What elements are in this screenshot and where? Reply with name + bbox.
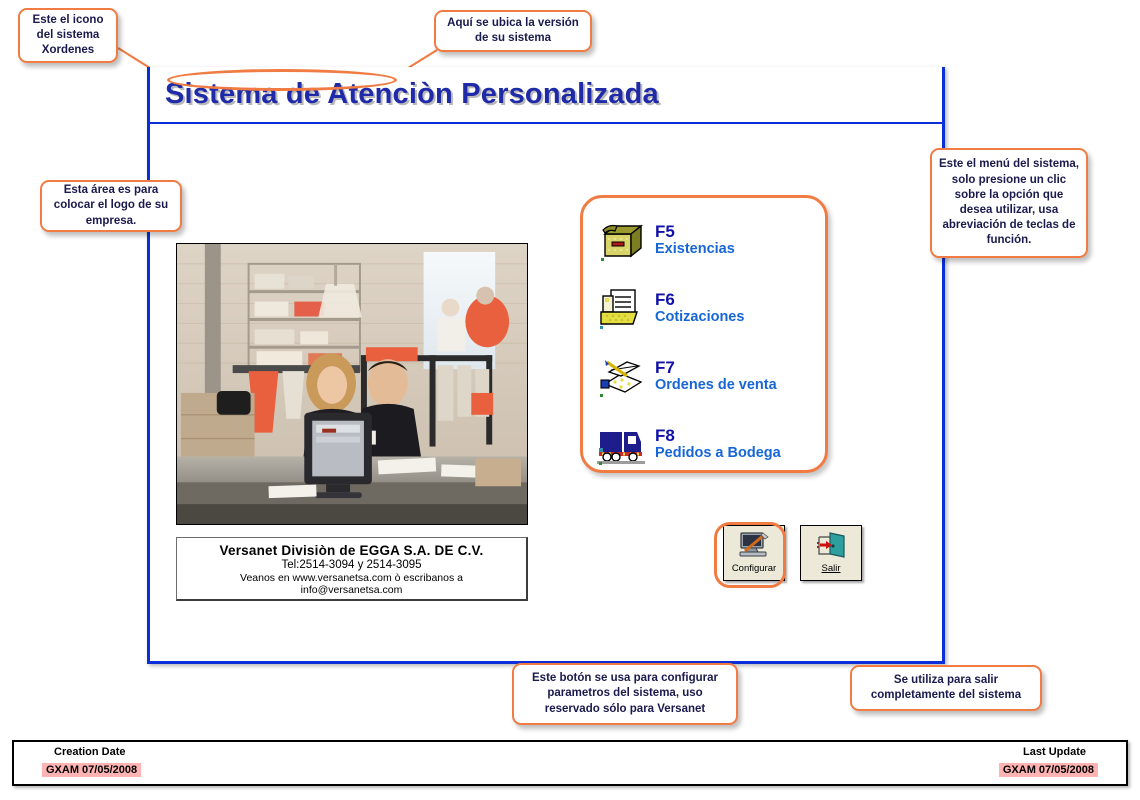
menu-item-pedidos-a-bodega[interactable]: F8 Pedidos a Bodega	[597, 418, 823, 470]
configure-button-label: Configurar	[732, 563, 776, 574]
company-info-box: Versanet Divisiòn de EGGA S.A. DE C.V. T…	[176, 537, 528, 601]
pen-order-icon	[597, 354, 645, 398]
callout-menu-note: Este el menú del sistema, solo presione …	[930, 148, 1088, 258]
callout-exit-note: Se utiliza para salir completamente del …	[850, 665, 1042, 711]
creation-date-value: GXAM 07/05/2008	[42, 763, 141, 777]
menu-key: F5	[655, 223, 735, 240]
company-name: Versanet Divisiòn de EGGA S.A. DE C.V.	[177, 543, 526, 558]
page-title: Sistema de Atenciòn Personalizada	[165, 78, 659, 111]
company-email: info@versanetsa.com	[177, 584, 526, 596]
last-update-label: Last Update	[1023, 746, 1086, 758]
last-update-value: GXAM 07/05/2008	[999, 763, 1098, 777]
computer-screwdriver-icon	[737, 531, 771, 559]
app-heading-bar: Sistema de Atenciòn Personalizada	[150, 67, 942, 124]
main-menu-panel: F5 Existencias	[580, 195, 828, 473]
menu-key: F6	[655, 291, 744, 308]
menu-label: Cotizaciones	[655, 310, 744, 325]
menu-label: Pedidos a Bodega	[655, 446, 781, 461]
callout-icon-note: Este el icono del sistema Xordenes	[18, 8, 118, 63]
menu-key: F7	[655, 359, 777, 376]
company-web: Veanos en www.versanetsa.com ò escribano…	[177, 572, 526, 584]
company-logo-photo	[176, 243, 528, 525]
exit-button[interactable]: Salir	[800, 525, 862, 581]
footer-bar: Creation Date GXAM 07/05/2008 Last Updat…	[12, 740, 1128, 786]
exit-button-label: Salir	[821, 563, 840, 574]
folder-document-icon	[597, 286, 645, 330]
callout-logo-note: Esta área es para colocar el logo de su …	[40, 180, 182, 232]
menu-item-cotizaciones[interactable]: F6 Cotizaciones	[597, 282, 823, 334]
callout-version-note: Aquí se ubica la versión de su sistema	[434, 10, 592, 52]
creation-date-label: Creation Date	[54, 746, 126, 758]
truck-icon	[597, 422, 645, 466]
menu-label: Existencias	[655, 242, 735, 257]
menu-key: F8	[655, 427, 781, 444]
application-window: Sistema de Atenciòn Personalizada	[147, 67, 945, 664]
configure-button[interactable]: Configurar	[723, 525, 785, 581]
box-icon	[597, 218, 645, 262]
menu-label: Ordenes de venta	[655, 378, 777, 393]
menu-item-ordenes-de-venta[interactable]: F7 Ordenes de venta	[597, 350, 823, 402]
company-phone: Tel:2514-3094 y 2514-3095	[177, 559, 526, 571]
screenshot-root: XAP Versiòn 3.1 Noviembre/2007 Sistema d…	[0, 0, 1140, 800]
exit-door-icon	[814, 531, 848, 559]
menu-item-existencias[interactable]: F5 Existencias	[597, 214, 823, 266]
callout-configure-note: Este botón se usa para configurar parame…	[512, 663, 738, 725]
